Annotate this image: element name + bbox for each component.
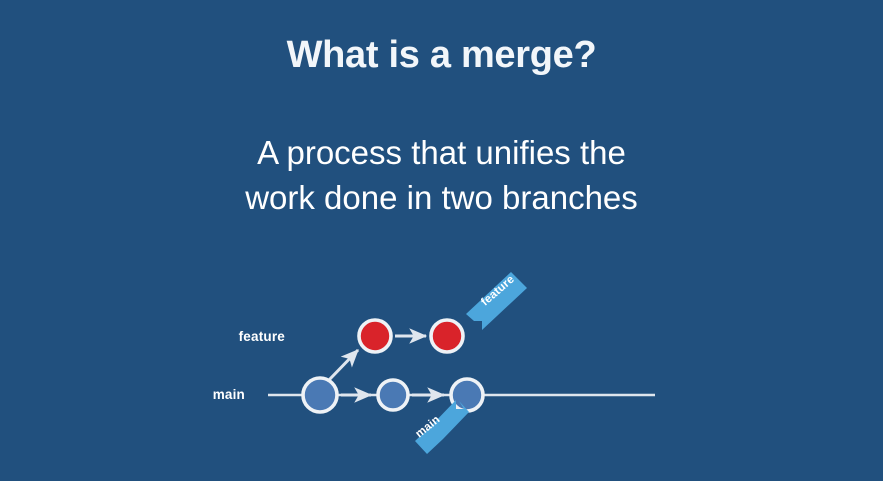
branch-label-feature: feature bbox=[175, 329, 285, 344]
branch-label-main: main bbox=[155, 387, 245, 402]
diagram-graphics bbox=[0, 0, 883, 481]
slide-canvas: What is a merge? A process that unifies … bbox=[0, 0, 883, 481]
git-merge-diagram: feature main feature main bbox=[0, 0, 883, 481]
tag-feature-shape[interactable] bbox=[466, 272, 527, 330]
commit-node-main-c1[interactable] bbox=[303, 378, 337, 412]
commit-node-feature-c1[interactable] bbox=[359, 320, 391, 352]
commit-node-feature-c2[interactable] bbox=[431, 320, 463, 352]
arrow-branch-off-to-feature-c1 bbox=[328, 350, 358, 381]
commit-node-main-c2[interactable] bbox=[378, 380, 408, 410]
